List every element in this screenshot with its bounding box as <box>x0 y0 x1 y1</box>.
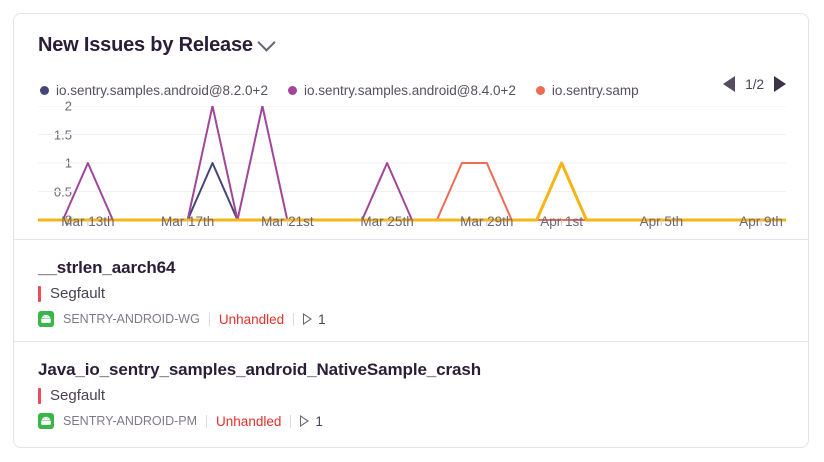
chart-panel: New Issues by Release io.sentry.samples.… <box>14 14 808 239</box>
issue-meta: SENTRY-ANDROID-WGUnhandled1 <box>38 311 784 327</box>
meta-separator <box>206 415 207 428</box>
event-count-group: 1 <box>303 312 326 327</box>
legend-item[interactable]: io.sentry.samples.android@8.2.0+2 <box>40 83 268 98</box>
legend-label: io.sentry.samples.android@8.2.0+2 <box>56 83 268 98</box>
x-axis-tick-label: Apr 5th <box>640 214 684 229</box>
unhandled-badge[interactable]: Unhandled <box>219 312 284 327</box>
issue-title[interactable]: __strlen_aarch64 <box>38 258 784 278</box>
issue-culprit-text: Segfault <box>50 387 105 404</box>
error-level-bar <box>38 286 41 302</box>
android-icon <box>38 413 54 429</box>
event-count-group: 1 <box>300 414 323 429</box>
issue-meta: SENTRY-ANDROID-PMUnhandled1 <box>38 413 784 429</box>
issue-list-item[interactable]: Java_io_sentry_samples_android_NativeSam… <box>14 341 808 443</box>
new-issues-by-release-card: New Issues by Release io.sentry.samples.… <box>13 13 809 448</box>
x-axis-tick-label: Mar 17th <box>161 214 214 229</box>
chevron-down-icon[interactable] <box>257 33 275 51</box>
legend-color-dot <box>536 86 545 95</box>
release-line-chart <box>38 106 786 226</box>
x-axis-tick-label: Apr 1st <box>540 214 583 229</box>
legend-label: io.sentry.samples.android@8.4.0+2 <box>304 83 516 98</box>
issue-project[interactable]: SENTRY-ANDROID-WG <box>63 312 200 326</box>
panel-title-text: New Issues by Release <box>38 34 253 57</box>
unhandled-badge[interactable]: Unhandled <box>216 414 281 429</box>
triangle-right-icon[interactable] <box>774 76 786 92</box>
x-axis-labels: Mar 13thMar 17thMar 21stMar 25thMar 29th… <box>38 214 786 234</box>
issue-title[interactable]: Java_io_sentry_samples_android_NativeSam… <box>38 360 784 380</box>
x-axis-tick-label: Mar 29th <box>460 214 513 229</box>
issue-culprit: Segfault <box>38 387 784 404</box>
issue-project[interactable]: SENTRY-ANDROID-PM <box>63 414 197 428</box>
x-axis-tick-label: Apr 9th <box>739 214 783 229</box>
meta-separator <box>290 415 291 428</box>
meta-separator <box>209 313 210 326</box>
legend-color-dot <box>40 86 49 95</box>
event-count: 1 <box>315 414 323 429</box>
panel-title[interactable]: New Issues by Release <box>38 34 273 57</box>
event-count: 1 <box>318 312 326 327</box>
issue-culprit: Segfault <box>38 285 784 302</box>
chart-plot-area <box>38 106 786 226</box>
issue-list: __strlen_aarch64SegfaultSENTRY-ANDROID-W… <box>14 240 808 443</box>
issue-list-item[interactable]: __strlen_aarch64SegfaultSENTRY-ANDROID-W… <box>14 240 808 341</box>
meta-separator <box>293 313 294 326</box>
issue-culprit-text: Segfault <box>50 285 105 302</box>
legend-color-dot <box>288 86 297 95</box>
triangle-left-icon[interactable] <box>723 76 735 92</box>
chart-legend: io.sentry.samples.android@8.2.0+2io.sent… <box>40 80 784 100</box>
legend-item[interactable]: io.sentry.samples.android@8.4.0+2 <box>288 83 516 98</box>
play-icon <box>300 415 309 427</box>
x-axis-tick-label: Mar 25th <box>360 214 413 229</box>
legend-item[interactable]: io.sentry.samp <box>536 83 639 98</box>
pager-position: 1/2 <box>745 77 764 92</box>
play-icon <box>303 313 312 325</box>
legend-pagination: 1/2 <box>723 76 786 92</box>
error-level-bar <box>38 388 41 404</box>
x-axis-tick-label: Mar 13th <box>61 214 114 229</box>
android-icon <box>38 311 54 327</box>
x-axis-tick-label: Mar 21st <box>261 214 314 229</box>
legend-label: io.sentry.samp <box>552 83 639 98</box>
